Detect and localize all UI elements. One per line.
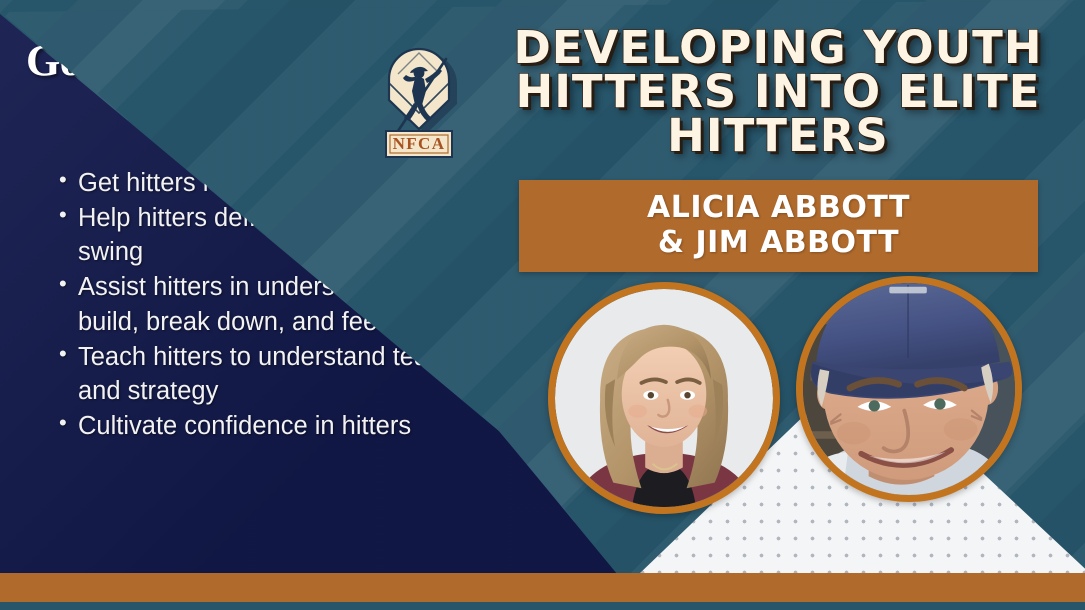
- goals-bullet-list: • Get hitters ready to perform at high l…: [56, 166, 556, 444]
- bullet-dot-icon: •: [59, 165, 67, 194]
- list-item-label: Assist hitters in understanding how to b…: [78, 273, 512, 335]
- list-item-label: Get hitters ready to perform at high lev…: [78, 169, 546, 197]
- list-item: • Help hitters define and own their own …: [56, 201, 556, 269]
- title-line-2: HITTERS INTO ELITE: [498, 70, 1058, 114]
- nfca-logo: NFCA: [378, 45, 468, 165]
- list-item-label: Cultivate confidence in hitters: [78, 412, 411, 440]
- bottom-teal-bar: [0, 602, 1085, 610]
- list-item-label: Teach hitters to understand team concept…: [78, 343, 546, 405]
- slide-title: DEVELOPING YOUTH HITTERS INTO ELITE HITT…: [498, 26, 1058, 158]
- nfca-wordmark: NFCA: [393, 134, 446, 153]
- headshot-alicia: [548, 282, 780, 514]
- bottom-accent-bar: [0, 573, 1085, 602]
- list-item: • Assist hitters in understanding how to…: [56, 270, 556, 338]
- list-item: • Get hitters ready to perform at high l…: [56, 166, 556, 200]
- list-item: • Cultivate confidence in hitters: [56, 409, 556, 443]
- list-item-label: Help hitters define and own their own sw…: [78, 204, 498, 266]
- bullet-dot-icon: •: [59, 269, 67, 298]
- presenter-name-2: & JIM ABBOTT: [658, 226, 899, 261]
- section-heading: Goals: [26, 35, 131, 86]
- bullet-dot-icon: •: [59, 408, 67, 437]
- list-item: • Teach hitters to understand team conce…: [56, 340, 556, 408]
- presentation-slide: Goals • Get hitters ready to perform at …: [0, 0, 1085, 610]
- bullet-dot-icon: •: [59, 200, 67, 229]
- presenter-name-1: ALICIA ABBOTT: [647, 191, 910, 226]
- headshot-jim: [796, 276, 1022, 502]
- title-line-3: HITTERS: [498, 114, 1058, 158]
- bullet-dot-icon: •: [59, 339, 67, 368]
- title-line-1: DEVELOPING YOUTH: [498, 26, 1058, 70]
- presenter-name-banner: ALICIA ABBOTT & JIM ABBOTT: [519, 180, 1038, 272]
